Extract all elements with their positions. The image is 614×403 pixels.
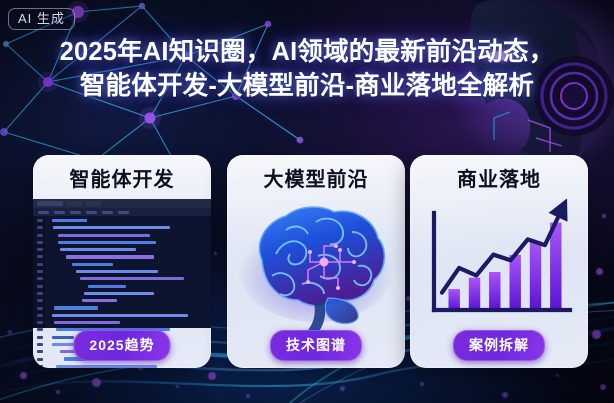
editor-line-numbers <box>33 216 46 328</box>
card-title-agent-dev: 智能体开发 <box>33 163 211 192</box>
card-row: 智能体开发 <box>0 0 614 403</box>
card-agent-dev[interactable]: 智能体开发 <box>33 155 211 368</box>
card-media-chart <box>410 199 588 328</box>
chart-trend-arrow <box>442 209 562 293</box>
code-editor-mock <box>33 199 211 328</box>
poster-canvas: AI 生成 2025年AI知识圈，AI领域的最新前沿动态， 智能体开发-大模型前… <box>0 0 614 403</box>
editor-menu-item <box>102 211 113 214</box>
editor-tab <box>85 201 101 206</box>
editor-menu-item <box>70 211 81 214</box>
pill-agent-dev[interactable]: 2025趋势 <box>73 330 170 361</box>
chart-bar <box>550 223 561 310</box>
chart-bar <box>489 272 500 310</box>
editor-titlebar <box>33 199 211 208</box>
editor-tab <box>37 201 63 206</box>
brain-icon <box>232 198 400 330</box>
editor-menu-item <box>38 211 49 214</box>
editor-menu-item <box>54 211 65 214</box>
chart-bar <box>530 242 541 310</box>
card-large-model[interactable]: 大模型前沿 <box>227 155 405 368</box>
card-media-code-editor <box>33 199 211 328</box>
card-title-commercial: 商业落地 <box>410 163 588 192</box>
card-media-brain <box>227 199 405 328</box>
chart-bars <box>449 223 562 310</box>
editor-menubar <box>33 208 211 216</box>
editor-menu-item <box>118 211 129 214</box>
editor-body <box>33 216 211 328</box>
card-commercial[interactable]: 商业落地 <box>410 155 588 368</box>
editor-tab <box>66 201 82 206</box>
editor-code-lines <box>46 216 211 328</box>
editor-menu-item <box>86 211 97 214</box>
pill-large-model[interactable]: 技术图谱 <box>270 330 362 361</box>
chart-bar <box>469 278 480 310</box>
pill-commercial[interactable]: 案例拆解 <box>453 330 545 361</box>
chart-bar <box>449 289 460 310</box>
growth-bar-chart <box>410 199 588 328</box>
card-title-large-model: 大模型前沿 <box>227 163 405 192</box>
chart-bar <box>510 255 521 310</box>
